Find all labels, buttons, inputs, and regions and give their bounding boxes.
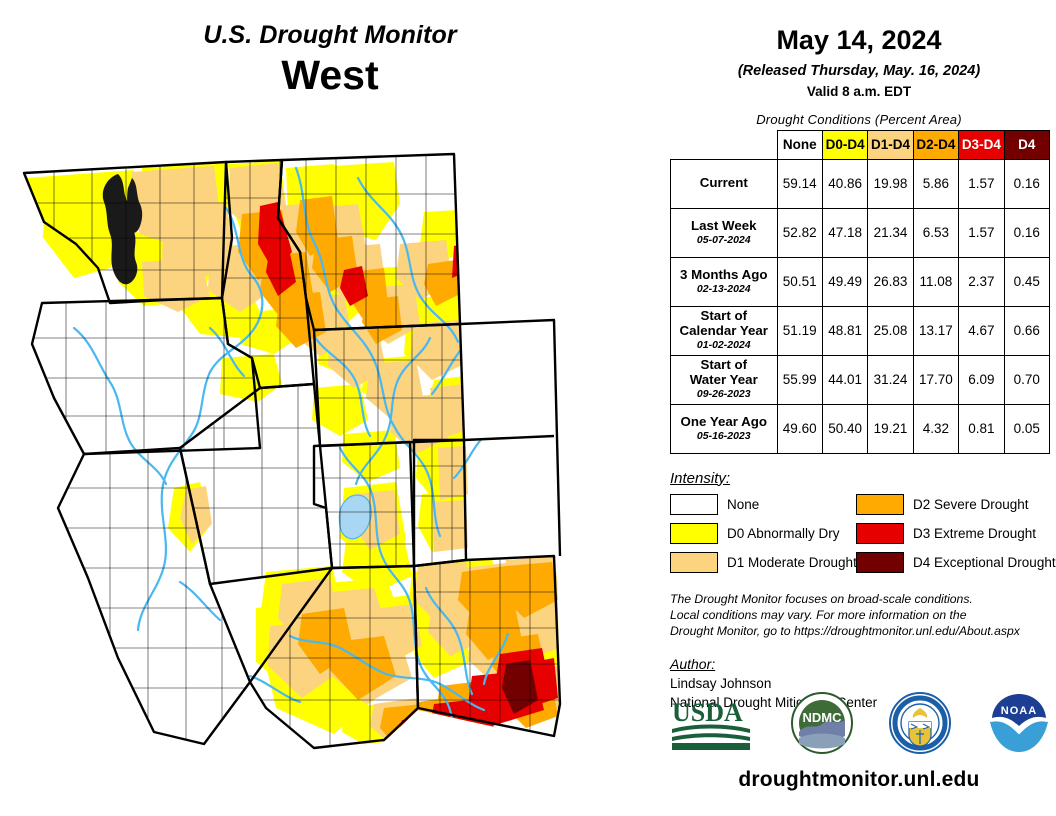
- row-label: One Year Ago05-16-2023: [671, 404, 778, 453]
- legend-item: D2 Severe Drought: [856, 494, 1050, 515]
- svg-text:NOAA: NOAA: [1001, 705, 1037, 717]
- cell-d2-d4: 4.32: [913, 404, 958, 453]
- table-header-row: None D0-D4 D1-D4 D2-D4 D3-D4 D4: [671, 130, 1050, 159]
- cell-none: 49.60: [777, 404, 822, 453]
- info-panel: May 14, 2024 (Released Thursday, May. 16…: [662, 0, 1056, 816]
- cell-d2-d4: 17.70: [913, 355, 958, 404]
- release-date: May 14, 2024: [662, 26, 1056, 56]
- author-label: Author:: [670, 656, 1056, 672]
- cell-d3-d4: 4.67: [959, 306, 1004, 355]
- cell-d0-d4: 50.40: [822, 404, 867, 453]
- page-title: U.S. Drought Monitor: [0, 22, 660, 48]
- cell-d2-d4: 13.17: [913, 306, 958, 355]
- website-url: droughtmonitor.unl.edu: [662, 768, 1056, 792]
- row-label: Start ofWater Year09-26-2023: [671, 355, 778, 404]
- cell-none: 55.99: [777, 355, 822, 404]
- row-label: Last Week05-07-2024: [671, 208, 778, 257]
- legend-item: D0 Abnormally Dry: [670, 523, 856, 544]
- row-label: Start ofCalendar Year01-02-2024: [671, 306, 778, 355]
- col-header-d3-d4: D3-D4: [959, 130, 1004, 159]
- table-row: Start ofCalendar Year01-02-202451.1948.8…: [671, 306, 1050, 355]
- table-row: Last Week05-07-202452.8247.1821.346.531.…: [671, 208, 1050, 257]
- cell-d0-d4: 40.86: [822, 159, 867, 208]
- row-date: 05-16-2023: [675, 431, 773, 443]
- legend-label: None: [727, 497, 759, 512]
- cell-d1-d4: 19.21: [868, 404, 913, 453]
- cell-d3-d4: 1.57: [959, 208, 1004, 257]
- row-date: 05-07-2024: [675, 235, 773, 247]
- cell-none: 59.14: [777, 159, 822, 208]
- disclaimer-note: The Drought Monitor focuses on broad-sca…: [670, 591, 1050, 640]
- cell-d4: 0.16: [1004, 208, 1049, 257]
- legend-swatch: [670, 552, 718, 573]
- legend-item: D3 Extreme Drought: [856, 523, 1050, 544]
- legend-label: D2 Severe Drought: [913, 497, 1029, 512]
- ndmc-logo: NDMC: [791, 692, 853, 759]
- cell-d1-d4: 31.24: [868, 355, 913, 404]
- usda-seal-logo: [889, 692, 951, 759]
- drought-map-svg: [14, 148, 662, 788]
- table-row: One Year Ago05-16-202349.6050.4019.214.3…: [671, 404, 1050, 453]
- legend-swatch: [856, 494, 904, 515]
- cell-d3-d4: 2.37: [959, 257, 1004, 306]
- cell-none: 51.19: [777, 306, 822, 355]
- legend-label: D4 Exceptional Drought: [913, 555, 1056, 570]
- drought-map[interactable]: [14, 148, 662, 788]
- table-body: Current59.1440.8619.985.861.570.16Last W…: [671, 159, 1050, 453]
- row-date: 09-26-2023: [675, 389, 773, 401]
- cell-d4: 0.16: [1004, 159, 1049, 208]
- legend-item: D1 Moderate Drought: [670, 552, 856, 573]
- svg-text:NDMC: NDMC: [802, 710, 842, 725]
- col-header-d2-d4: D2-D4: [913, 130, 958, 159]
- table-row: Current59.1440.8619.985.861.570.16: [671, 159, 1050, 208]
- legend-swatch: [670, 523, 718, 544]
- col-header-d1-d4: D1-D4: [868, 130, 913, 159]
- drought-conditions-table: None D0-D4 D1-D4 D2-D4 D3-D4 D4 Current5…: [670, 130, 1050, 454]
- table-caption: Drought Conditions (Percent Area): [662, 112, 1056, 127]
- row-label: 3 Months Ago02-13-2024: [671, 257, 778, 306]
- cell-d2-d4: 11.08: [913, 257, 958, 306]
- cell-d3-d4: 1.57: [959, 159, 1004, 208]
- legend-swatch: [856, 552, 904, 573]
- legend-title: Intensity:: [670, 470, 1050, 487]
- cell-d1-d4: 25.08: [868, 306, 913, 355]
- intensity-legend: Intensity: NoneD2 Severe DroughtD0 Abnor…: [670, 470, 1050, 573]
- col-header-none: None: [777, 130, 822, 159]
- legend-label: D0 Abnormally Dry: [727, 526, 840, 541]
- legend-item: D4 Exceptional Drought: [856, 552, 1050, 573]
- row-label: Current: [671, 159, 778, 208]
- cell-d0-d4: 48.81: [822, 306, 867, 355]
- cell-d0-d4: 44.01: [822, 355, 867, 404]
- legend-swatch: [856, 523, 904, 544]
- table-corner-cell: [671, 130, 778, 159]
- col-header-d4: D4: [1004, 130, 1049, 159]
- cell-d3-d4: 0.81: [959, 404, 1004, 453]
- released-line: (Released Thursday, May. 16, 2024): [662, 63, 1056, 79]
- col-header-d0-d4: D0-D4: [822, 130, 867, 159]
- row-date: 01-02-2024: [675, 340, 773, 352]
- usda-logo: USDA: [670, 695, 754, 756]
- map-title-block: U.S. Drought Monitor West: [0, 22, 660, 99]
- row-date: 02-13-2024: [675, 284, 773, 296]
- region-title: West: [0, 52, 660, 99]
- cell-d0-d4: 49.49: [822, 257, 867, 306]
- valid-line: Valid 8 a.m. EDT: [662, 84, 1056, 99]
- cell-d1-d4: 26.83: [868, 257, 913, 306]
- legend-label: D3 Extreme Drought: [913, 526, 1036, 541]
- legend-label: D1 Moderate Drought: [727, 555, 857, 570]
- cell-d1-d4: 19.98: [868, 159, 913, 208]
- cell-d1-d4: 21.34: [868, 208, 913, 257]
- cell-d2-d4: 6.53: [913, 208, 958, 257]
- cell-d4: 0.66: [1004, 306, 1049, 355]
- cell-d2-d4: 5.86: [913, 159, 958, 208]
- legend-swatch: [670, 494, 718, 515]
- cell-d0-d4: 47.18: [822, 208, 867, 257]
- cell-none: 52.82: [777, 208, 822, 257]
- cell-d4: 0.70: [1004, 355, 1049, 404]
- table-row: 3 Months Ago02-13-202450.5149.4926.8311.…: [671, 257, 1050, 306]
- cell-none: 50.51: [777, 257, 822, 306]
- logo-row: USDA NDMC: [670, 686, 1050, 764]
- legend-grid: NoneD2 Severe DroughtD0 Abnormally DryD3…: [670, 494, 1050, 573]
- table-row: Start ofWater Year09-26-202355.9944.0131…: [671, 355, 1050, 404]
- legend-item: None: [670, 494, 856, 515]
- cell-d4: 0.45: [1004, 257, 1049, 306]
- svg-text:USDA: USDA: [672, 698, 743, 727]
- noaa-logo: NOAA: [988, 692, 1050, 759]
- date-block: May 14, 2024 (Released Thursday, May. 16…: [662, 0, 1056, 99]
- cell-d4: 0.05: [1004, 404, 1049, 453]
- cell-d3-d4: 6.09: [959, 355, 1004, 404]
